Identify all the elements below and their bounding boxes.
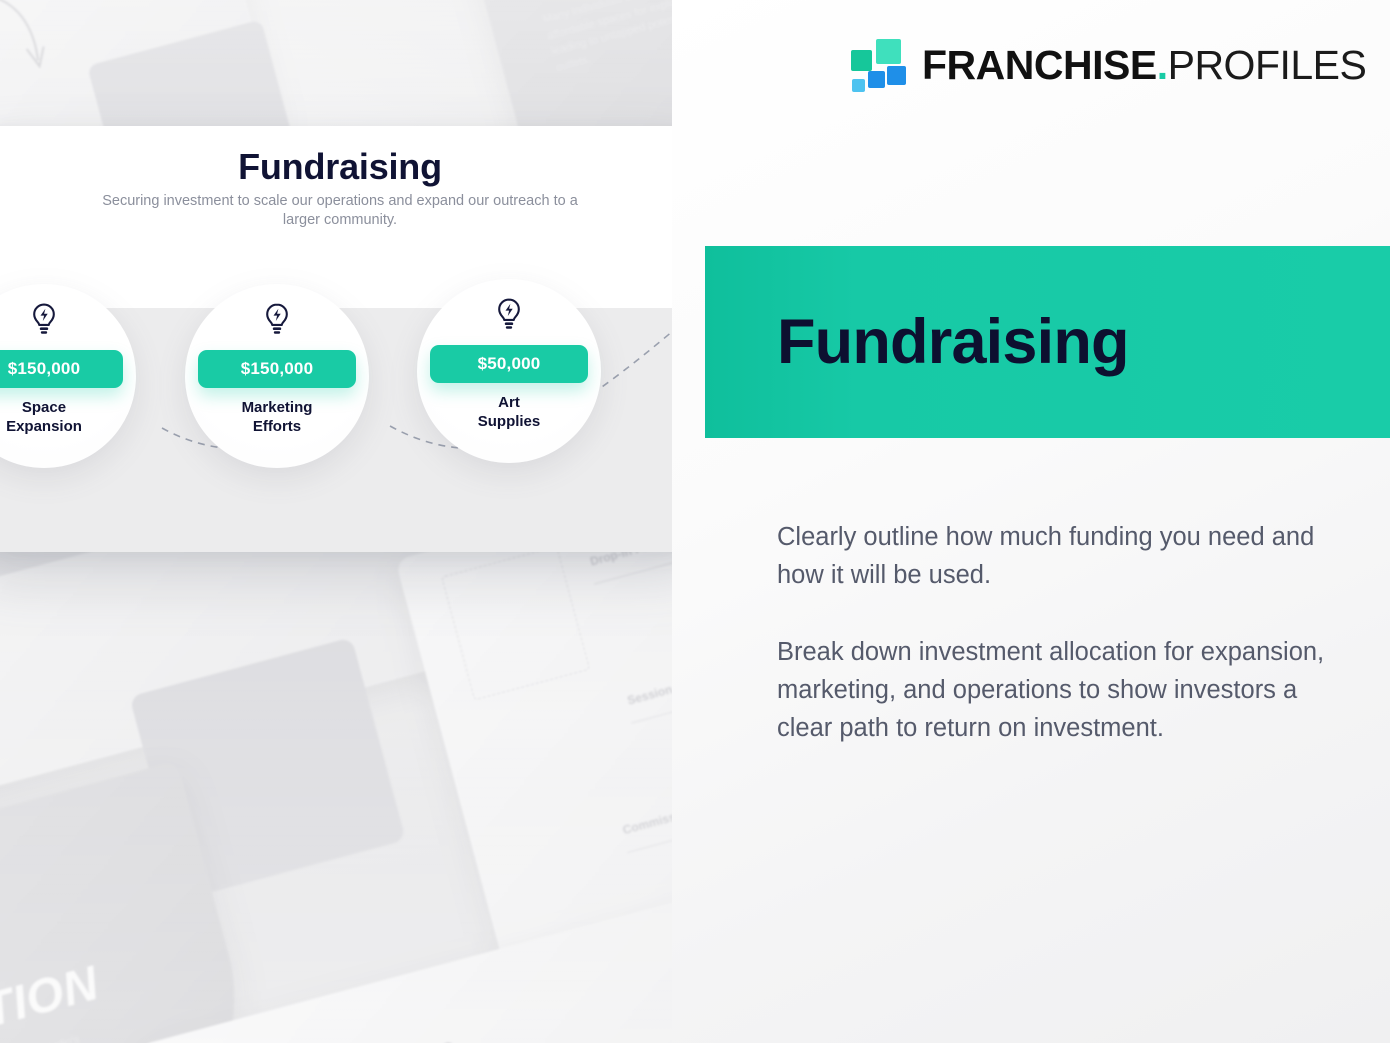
funding-amount-badge: $150,000 (198, 350, 356, 388)
funding-node-label-line2: Supplies (478, 412, 541, 431)
background-slide-label: Commissioned Art Sales (621, 786, 672, 838)
lightbulb-icon (29, 302, 59, 341)
description-block: Clearly outline how much funding you nee… (777, 518, 1357, 747)
funding-node-label-line2: Efforts (242, 417, 313, 436)
slide-card-header: Fundraising Securing investment to scale… (0, 126, 708, 308)
funding-node-art-supplies[interactable]: $50,000 Art Supplies (417, 279, 601, 463)
funding-node-marketing-efforts[interactable]: $150,000 Marketing Efforts (185, 284, 369, 468)
funding-amount-badge: $150,000 (0, 350, 123, 388)
funding-node-label-line1: Space (6, 398, 82, 417)
logo-square-blue-mid (868, 71, 885, 88)
funding-node-label: Space Expansion (6, 398, 82, 436)
funding-amount-badge: $50,000 (430, 345, 588, 383)
background-metric-value: 1,000 (379, 1036, 460, 1043)
logo-square-teal (876, 39, 901, 64)
slide-preview-page: KET spaces in urban and is substantial T… (0, 0, 1390, 1043)
logo-dot: . (1157, 42, 1168, 88)
fundraising-slide-card: Fundraising Securing investment to scale… (0, 126, 708, 552)
lightbulb-icon (494, 297, 524, 336)
logo-squares-icon (850, 38, 906, 92)
logo-square-light-blue (852, 79, 865, 92)
slide-card-title: Fundraising (0, 146, 708, 188)
slide-card-subtitle: Securing investment to scale our operati… (90, 192, 590, 230)
funding-node-label: Art Supplies (478, 393, 541, 431)
background-slide-label: Session Workshops (626, 663, 672, 708)
lightbulb-icon (262, 302, 292, 341)
logo-wordmark: FRANCHISE.PROFILES (922, 42, 1366, 89)
logo-square-blue-large (887, 66, 906, 85)
curved-arrow-icon (0, 0, 69, 109)
background-slide-body: Many individuals and communities lack ac… (541, 0, 672, 76)
background-dashed-box (441, 546, 590, 701)
page-title: Fundraising (777, 306, 1129, 378)
funding-node-label-line1: Marketing (242, 398, 313, 417)
franchise-profiles-logo: FRANCHISE.PROFILES (850, 38, 1366, 92)
logo-square-green (851, 50, 872, 71)
logo-word-thin: PROFILES (1168, 42, 1367, 88)
content-panel: FRANCHISE.PROFILES Fundraising Clearly o… (672, 0, 1390, 1043)
funding-node-label-line2: Expansion (6, 417, 82, 436)
logo-word-bold: FRANCHISE (922, 42, 1157, 88)
description-paragraph-2: Break down investment allocation for exp… (777, 633, 1357, 748)
funding-node-label-line1: Art (478, 393, 541, 412)
funding-node-label: Marketing Efforts (242, 398, 313, 436)
description-paragraph-1: Clearly outline how much funding you nee… (777, 518, 1357, 595)
